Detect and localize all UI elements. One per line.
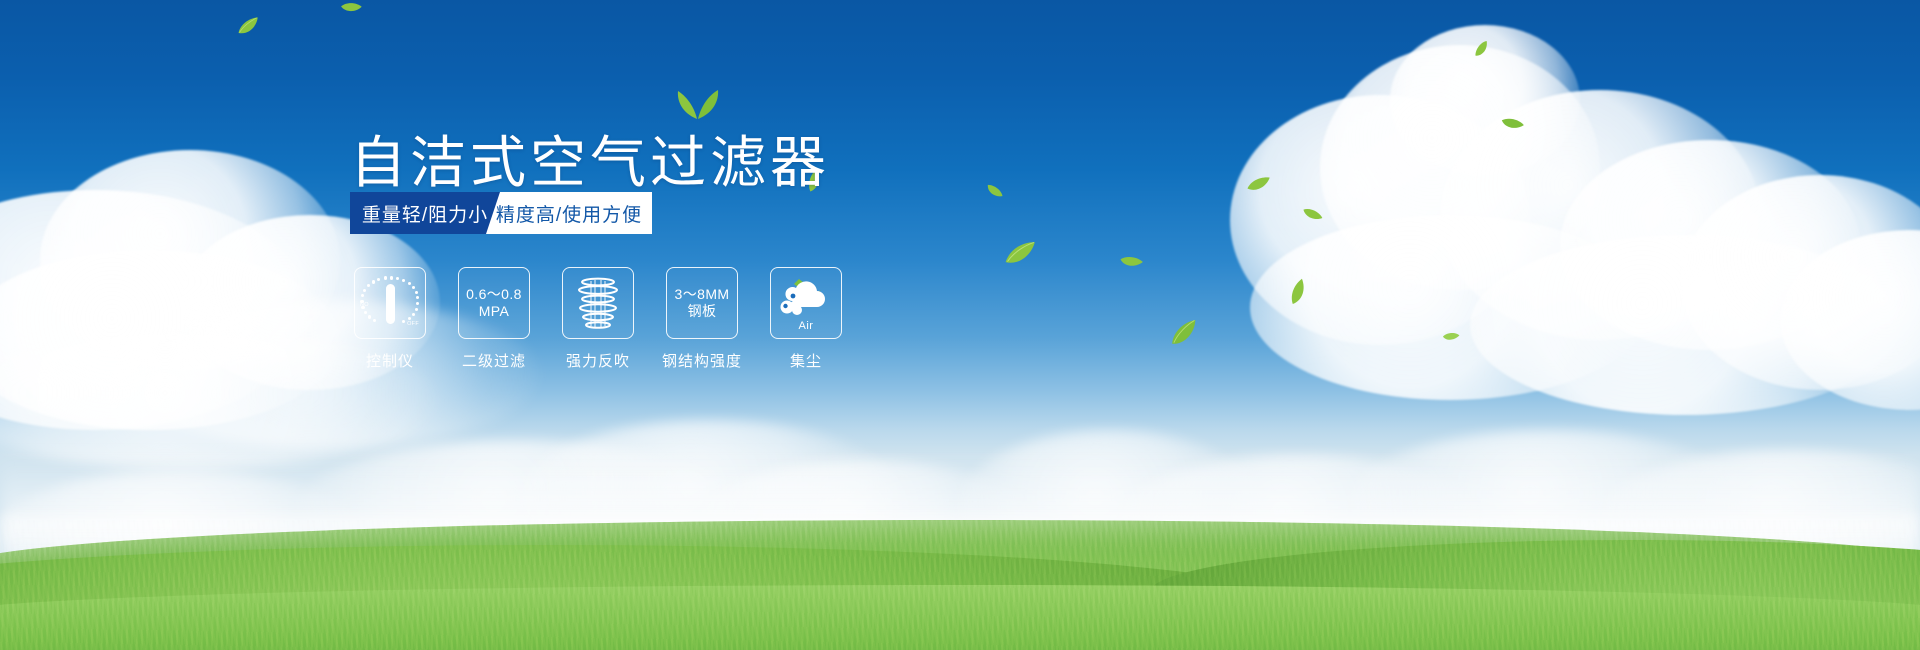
- feature-box-text-line1: 0.6～0.8: [466, 286, 522, 303]
- dial-needle: [386, 284, 395, 324]
- spiral-filter-icon: [575, 275, 621, 331]
- feature-label: 控制仪: [366, 350, 414, 371]
- feature-item-pressure: 0.6～0.8 MPA 二级过滤: [456, 267, 532, 371]
- feature-list: NO OFF 控制仪 0.6～0.8 MPA 二级过滤: [352, 267, 844, 371]
- subtitle-pill-primary: 重量轻/阻力小: [350, 192, 500, 234]
- feature-icon-box: 0.6～0.8 MPA: [458, 267, 530, 339]
- feature-item-backblow: 强力反吹: [560, 267, 636, 371]
- banner-content: 自洁式空气过滤器 重量轻/阻力小 精度高/使用方便: [0, 0, 1920, 650]
- air-label: Air: [777, 320, 835, 332]
- feature-box-text-line1: 3～8MM: [675, 286, 730, 303]
- feature-item-control: NO OFF 控制仪: [352, 267, 428, 371]
- feature-item-dust: Air 集尘: [768, 267, 844, 371]
- feature-icon-box: 3～8MM 钢板: [666, 267, 738, 339]
- subtitle-pill-group: 重量轻/阻力小 精度高/使用方便: [350, 192, 652, 234]
- dial-icon: NO OFF: [359, 275, 421, 331]
- feature-icon-box: Air: [770, 267, 842, 339]
- feature-label: 强力反吹: [566, 350, 630, 371]
- hero-banner: 自洁式空气过滤器 重量轻/阻力小 精度高/使用方便: [0, 0, 1920, 650]
- feature-icon-box: [562, 267, 634, 339]
- dial-label-no: NO: [360, 302, 369, 308]
- feature-label: 二级过滤: [462, 350, 526, 371]
- feature-label: 钢结构强度: [662, 350, 742, 371]
- feature-box-text-line2: 钢板: [688, 303, 717, 320]
- page-title: 自洁式空气过滤器: [350, 118, 830, 199]
- feature-box-text-line2: MPA: [479, 303, 510, 320]
- dial-label-off: OFF: [407, 321, 419, 327]
- feature-item-steel: 3～8MM 钢板 钢结构强度: [664, 267, 740, 371]
- feature-label: 集尘: [790, 350, 822, 371]
- cloud-air-icon: Air: [777, 277, 835, 329]
- subtitle-pill-secondary: 精度高/使用方便: [486, 192, 652, 234]
- feature-icon-box: NO OFF: [354, 267, 426, 339]
